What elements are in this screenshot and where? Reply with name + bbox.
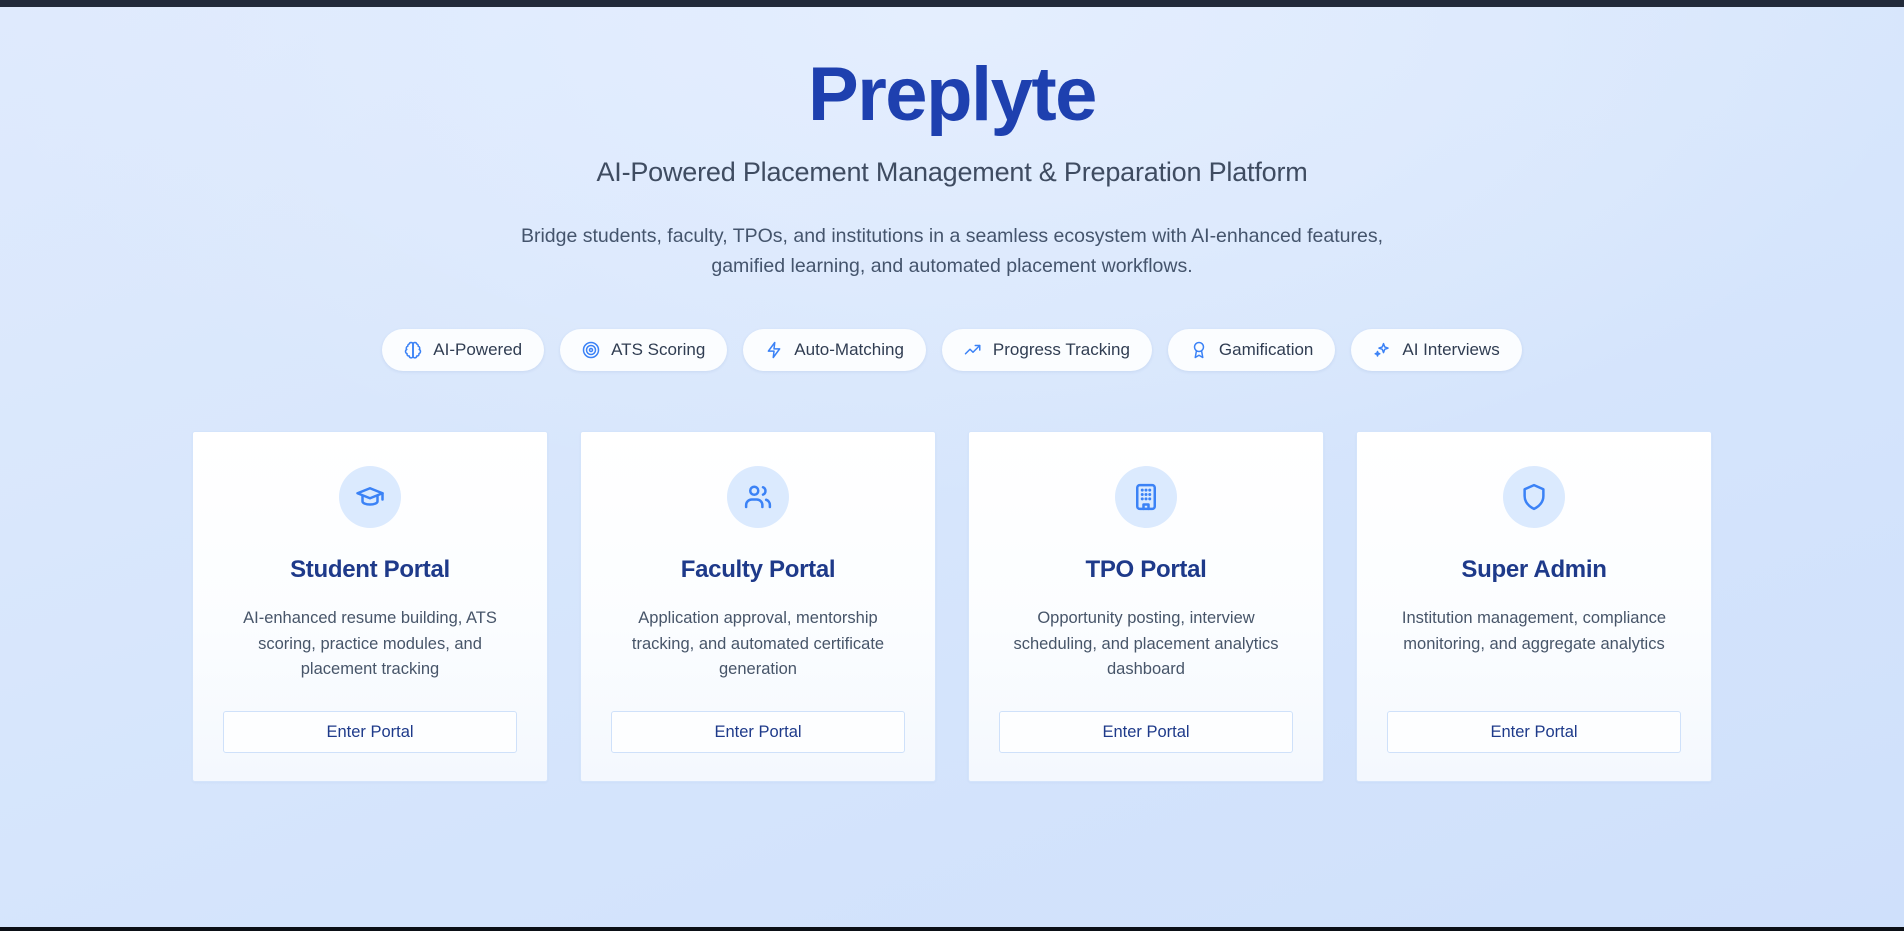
award-icon: [1190, 341, 1208, 359]
hero-description: Bridge students, faculty, TPOs, and inst…: [512, 222, 1392, 281]
feature-pill-auto-matching[interactable]: Auto-Matching: [743, 329, 926, 371]
landing-page: Preplyte AI-Powered Placement Management…: [0, 7, 1904, 927]
shield-icon: [1503, 466, 1565, 528]
portal-card-description: Opportunity posting, interview schedulin…: [999, 606, 1293, 683]
portal-card-title: TPO Portal: [1085, 556, 1206, 584]
feature-pill-row: AI-Powered ATS Scoring: [0, 329, 1904, 371]
enter-portal-button[interactable]: Enter Portal: [1387, 711, 1681, 753]
lightning-bolt-icon: [765, 341, 783, 359]
portal-card-super-admin[interactable]: Super Admin Institution management, comp…: [1356, 431, 1712, 782]
feature-pill-ai-powered[interactable]: AI-Powered: [382, 329, 544, 371]
building-icon: [1115, 466, 1177, 528]
portal-card-description: Application approval, mentorship trackin…: [611, 606, 905, 683]
feature-pill-progress-tracking[interactable]: Progress Tracking: [942, 329, 1152, 371]
portal-card-title: Super Admin: [1461, 556, 1606, 584]
portal-card-student[interactable]: Student Portal AI-enhanced resume buildi…: [192, 431, 548, 782]
hero-section: Preplyte AI-Powered Placement Management…: [0, 52, 1904, 281]
feature-pill-label: AI-Powered: [433, 340, 522, 360]
feature-pill-ats-scoring[interactable]: ATS Scoring: [560, 329, 727, 371]
browser-chrome-top-bar: [0, 0, 1904, 7]
graduation-cap-icon: [339, 466, 401, 528]
portal-card-tpo[interactable]: TPO Portal Opportunity posting, intervie…: [968, 431, 1324, 782]
page-title: Preplyte: [0, 52, 1904, 137]
portal-card-description: AI-enhanced resume building, ATS scoring…: [223, 606, 517, 683]
portal-card-title: Student Portal: [290, 556, 450, 584]
portal-card-row: Student Portal AI-enhanced resume buildi…: [0, 431, 1904, 782]
portal-card-faculty[interactable]: Faculty Portal Application approval, men…: [580, 431, 936, 782]
portal-card-description: Institution management, compliance monit…: [1387, 606, 1681, 683]
portal-card-title: Faculty Portal: [681, 556, 836, 584]
enter-portal-button[interactable]: Enter Portal: [611, 711, 905, 753]
target-icon: [582, 341, 600, 359]
feature-pill-label: Auto-Matching: [794, 340, 904, 360]
feature-pill-label: Progress Tracking: [993, 340, 1130, 360]
browser-chrome-bottom-bar: [0, 927, 1904, 931]
enter-portal-button[interactable]: Enter Portal: [999, 711, 1293, 753]
hero-subtitle: AI-Powered Placement Management & Prepar…: [0, 157, 1904, 188]
feature-pill-label: Gamification: [1219, 340, 1313, 360]
trending-up-icon: [964, 341, 982, 359]
feature-pill-label: AI Interviews: [1402, 340, 1499, 360]
enter-portal-button[interactable]: Enter Portal: [223, 711, 517, 753]
users-icon: [727, 466, 789, 528]
feature-pill-gamification[interactable]: Gamification: [1168, 329, 1335, 371]
sparkles-icon: [1373, 341, 1391, 359]
brain-icon: [404, 341, 422, 359]
feature-pill-label: ATS Scoring: [611, 340, 705, 360]
feature-pill-ai-interviews[interactable]: AI Interviews: [1351, 329, 1521, 371]
browser-viewport: Preplyte AI-Powered Placement Management…: [0, 0, 1904, 931]
